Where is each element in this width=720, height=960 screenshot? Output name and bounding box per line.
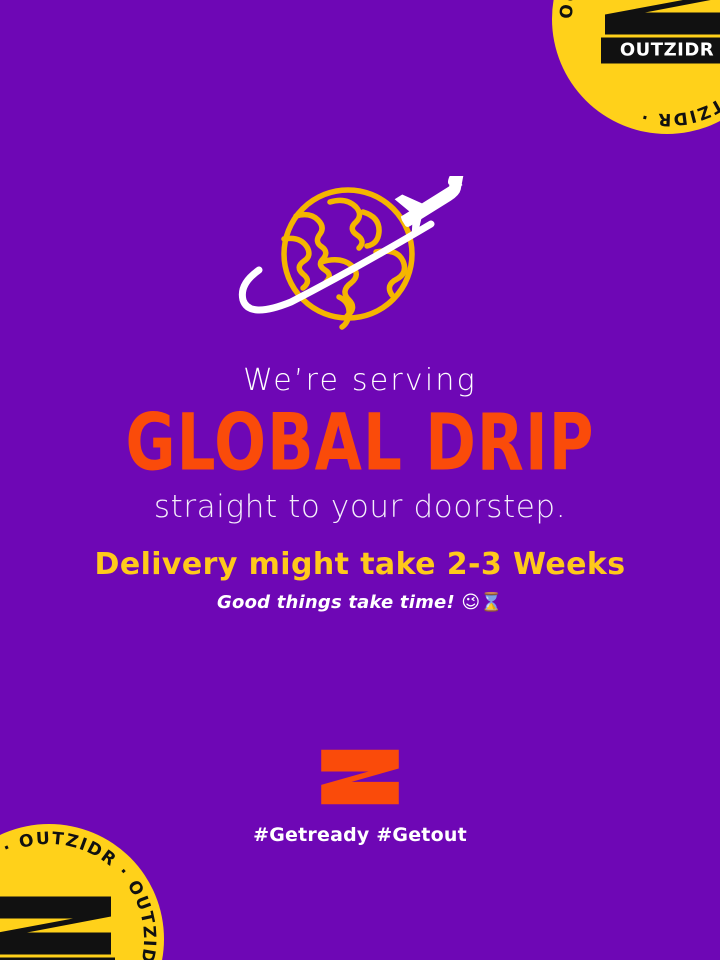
outzidr-badge-top-right: OUTZIDR · OUTZIDR · OUTZIDR · OUTZIDR · … — [552, 0, 720, 134]
badge-core-bottom-left: OUTZIDR — [0, 895, 115, 960]
wink-hourglass-emoji: 😉⌛ — [461, 592, 503, 613]
delivery-subline: Good things take time! 😉⌛ — [0, 592, 720, 613]
page-title: GLOBAL DRIP — [0, 405, 720, 483]
footer-brand-block: #Getready #Getout — [0, 748, 720, 846]
delivery-headline: Delivery might take 2-3 Weeks — [0, 547, 720, 582]
badge-core-top-right: OUTZIDR — [601, 0, 720, 64]
globe-airplane-illustration — [235, 176, 485, 344]
promo-poster: OUTZIDR · OUTZIDR · OUTZIDR · OUTZIDR · … — [0, 0, 720, 960]
subtitle-text: straight to your doorstep. — [0, 489, 720, 525]
badge-wordmark-top-right: OUTZIDR — [601, 38, 720, 64]
headline-block: We’re serving GLOBAL DRIP straight to yo… — [0, 364, 720, 525]
z-logo-icon — [601, 0, 720, 37]
z-logo-icon — [0, 895, 115, 957]
delivery-subline-text: Good things take time! — [217, 592, 455, 613]
hashtag-text: #Getready #Getout — [0, 824, 720, 846]
globe-icon — [284, 190, 412, 327]
delivery-notice-block: Delivery might take 2-3 Weeks Good thing… — [0, 547, 720, 613]
eyebrow-text: We’re serving — [0, 364, 720, 397]
z-logo-icon — [320, 748, 400, 806]
